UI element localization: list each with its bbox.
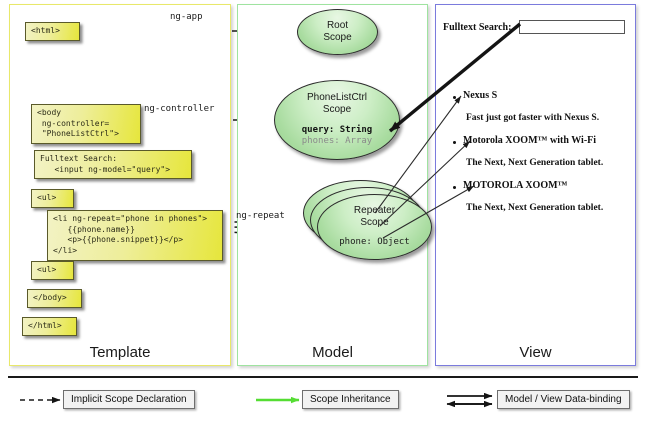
legend-arrow-databinding (447, 396, 492, 404)
diagram-canvas: Template Model View <html> <body ng-cont… (0, 0, 645, 425)
legend-arrows (0, 0, 645, 425)
